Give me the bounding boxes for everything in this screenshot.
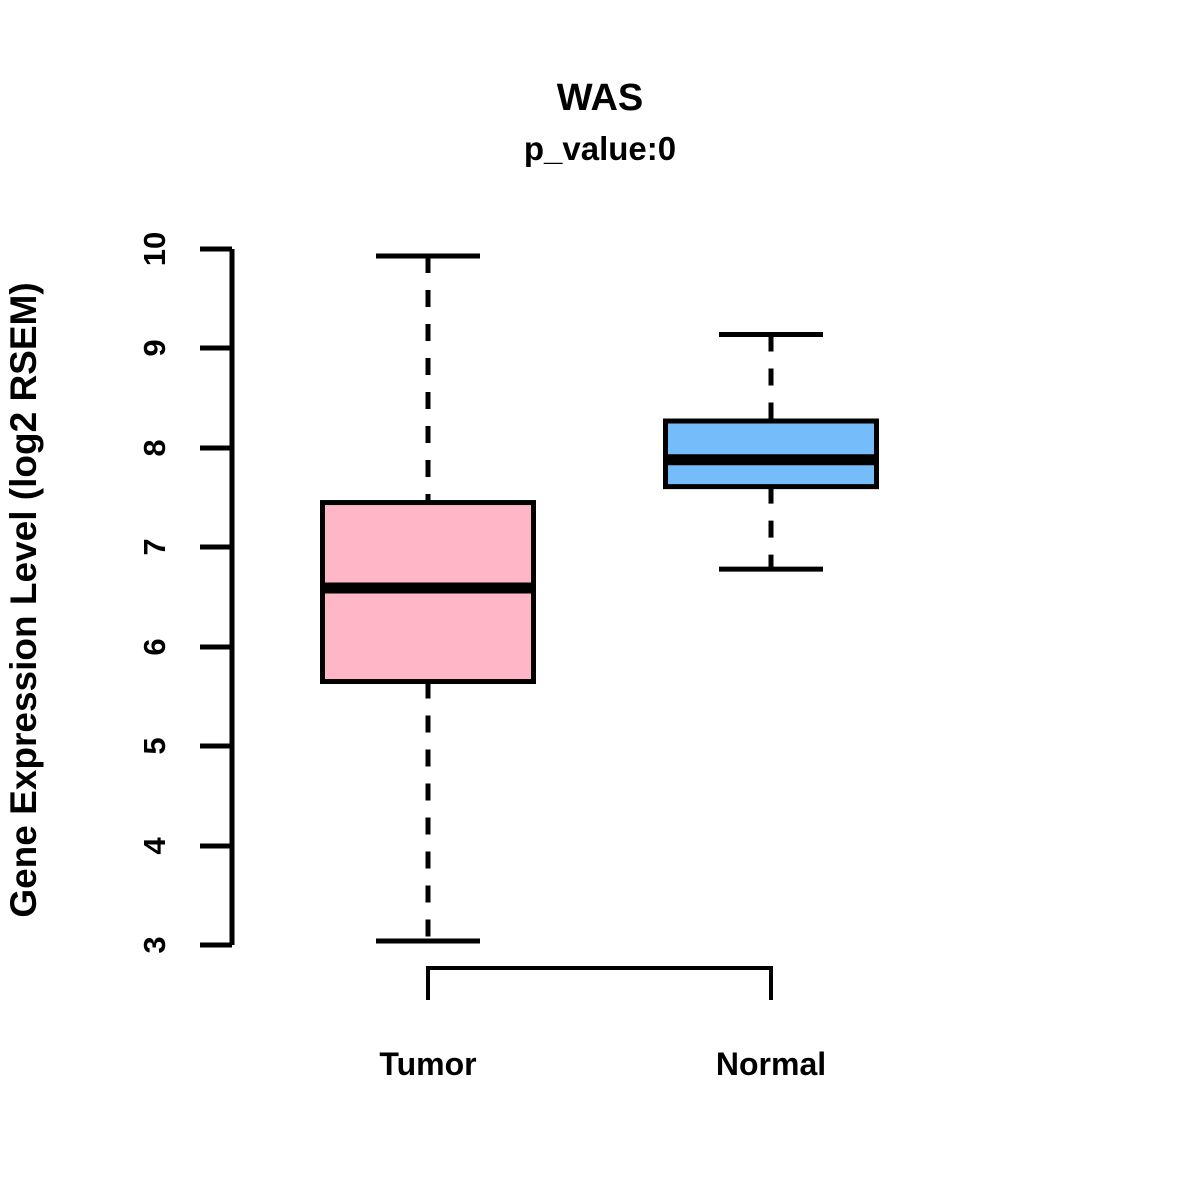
chart-subtitle: p_value:0 (524, 130, 676, 167)
chart-title: WAS (557, 77, 644, 119)
y-tick-label-10: 10 (137, 232, 172, 266)
y-tick-label-9: 9 (137, 339, 172, 356)
x-label-tumor: Tumor (379, 1046, 476, 1082)
y-tick-label-4: 4 (137, 837, 172, 855)
y-tick-label-5: 5 (137, 737, 172, 754)
y-tick-label-3: 3 (137, 936, 172, 953)
boxplot-figure: WAS p_value:0 Gene Expression Level (log… (0, 0, 1200, 1200)
normal-box-rect[interactable] (666, 421, 877, 487)
y-axis-title: Gene Expression Level (log2 RSEM) (3, 282, 44, 917)
boxplot-canvas: WAS p_value:0 Gene Expression Level (log… (0, 0, 1200, 1200)
x-label-normal: Normal (716, 1046, 826, 1082)
y-tick-label-8: 8 (137, 439, 172, 456)
y-tick-label-6: 6 (137, 638, 172, 655)
box-group-tumor[interactable] (323, 256, 534, 941)
y-tick-label-7: 7 (137, 538, 172, 555)
box-group-normal[interactable] (666, 335, 877, 570)
x-axis-bracket (428, 968, 771, 1000)
